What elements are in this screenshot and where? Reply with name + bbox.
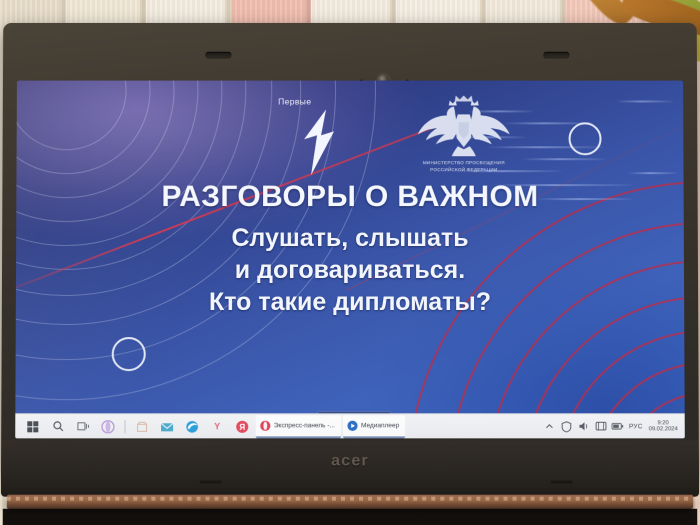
network-icon[interactable] [595,420,607,432]
clock-and-date[interactable]: 9:20 09.02.2024 [648,420,678,433]
chevron-up-icon[interactable] [544,420,556,432]
pervye-logo: Первые [272,96,364,180]
battery-icon[interactable] [612,420,624,432]
slide-subtitle-line-1: Слушать, слышать [16,222,684,254]
russian-double-headed-eagle-icon [414,93,514,159]
store-icon[interactable] [130,415,153,438]
decor-ring-outline [112,337,146,371]
taskbar-task-opera[interactable]: Экспресс-панель -... [256,415,341,438]
taskbar-left-group: Y Я Э [15,414,405,438]
media-player-icon [347,420,358,431]
photo-scene: Первые [0,0,700,525]
arrow-up-mark-icon [294,109,338,175]
lid-vent [200,481,222,484]
pervye-logo-word: Первые [278,96,311,106]
svg-text:Я: Я [239,422,245,431]
windows-taskbar[interactable]: Y Я Э [15,413,685,438]
lid-hinge-tab [543,52,569,59]
slide-subtitle-line-2: и договариваться. [16,254,684,286]
yandex-y-icon[interactable]: Y [206,415,229,438]
laptop-base-shadow [3,509,698,525]
ministry-logo: МИНИСТЕРСТВО ПРОСВЕЩЕНИЯ РОССИЙСКОЙ ФЕДЕ… [394,93,534,183]
ministry-caption-line2: РОССИЙСКОЙ ФЕДЕРАЦИИ [394,167,534,174]
deck-reflection [7,497,693,501]
start-button[interactable] [21,415,44,438]
opera-icon [260,420,271,431]
shield-icon[interactable] [561,420,573,432]
tray-date: 09.02.2024 [649,426,678,433]
slide-logo-row: Первые [16,93,683,181]
yandex-ya-icon[interactable]: Я [231,415,254,438]
language-indicator[interactable]: РУС [629,423,643,430]
opera-icon[interactable] [96,415,119,438]
lid-hinge-tab [205,52,231,59]
slide-title: РАЗГОВОРЫ О ВАЖНОМ [16,180,683,214]
taskbar-divider [124,420,125,433]
volume-icon[interactable] [578,420,590,432]
acer-brand-logo: acer [1,452,699,470]
edge-icon[interactable] [181,415,204,438]
slide-subtitle-line-3: Кто такие дипломаты? [16,286,684,318]
search-icon[interactable] [46,415,69,438]
laptop-device: Первые [0,23,700,525]
task-view-icon[interactable] [71,415,94,438]
ministry-caption-line1: МИНИСТЕРСТВО ПРОСВЕЩЕНИЯ [394,160,534,167]
lid-vent [551,481,573,484]
mail-icon[interactable] [156,415,179,438]
ministry-caption: МИНИСТЕРСТВО ПРОСВЕЩЕНИЯ РОССИЙСКОЙ ФЕДЕ… [394,160,534,174]
laptop-lid-bottom-bar: acer [1,440,699,496]
taskbar-task-label: Экспресс-панель -... [274,422,335,429]
system-tray: РУС 9:20 09.02.2024 [544,414,685,438]
screen-bezel: Первые [15,81,685,439]
laptop-keyboard-deck [7,495,693,509]
taskbar-task-label: Медиаплеер [361,422,399,429]
slide-subtitle: Слушать, слышать и договариваться. Кто т… [16,222,684,318]
taskbar-task-mediaplayer[interactable]: Медиаплеер [343,415,405,438]
presentation-slide[interactable]: Первые [15,81,685,439]
